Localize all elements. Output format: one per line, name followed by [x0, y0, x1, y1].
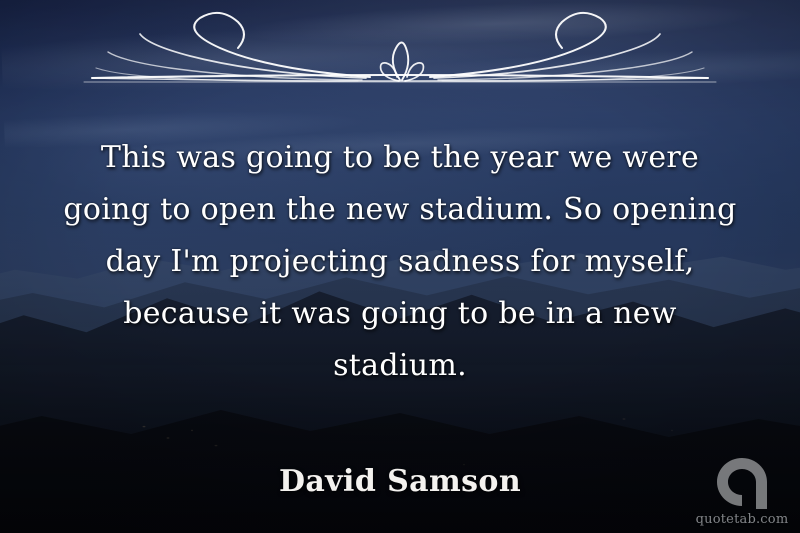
watermark-site-label: quotetab.com	[694, 512, 790, 527]
quote-author: David Samson	[0, 464, 800, 499]
quotetab-q-logo-icon	[713, 455, 771, 511]
card-content: This was going to be the year we were go…	[0, 0, 800, 533]
site-watermark[interactable]: quotetab.com	[694, 455, 790, 527]
quote-image-card: This was going to be the year we were go…	[0, 0, 800, 533]
quote-text: This was going to be the year we were go…	[62, 132, 738, 392]
flourish-divider-ornament	[70, 4, 730, 96]
